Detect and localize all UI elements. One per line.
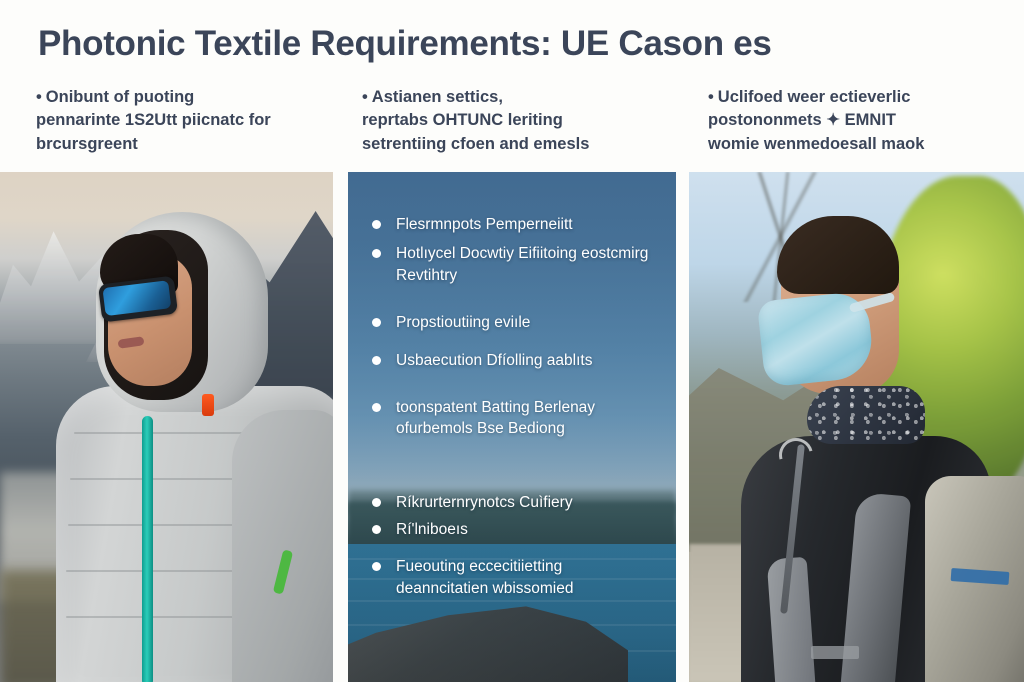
bullet-dot-icon	[372, 220, 381, 229]
list-item: Rí'lniboeıs	[368, 519, 654, 540]
panel-left	[0, 172, 333, 682]
man-mask-backpack-photo	[689, 172, 1024, 682]
subhead-line: setrentiing cfoen and emesls	[362, 133, 672, 156]
panel-middle: Flesrmnpots Pemperneiitt Hotlıycel Docwt…	[348, 172, 676, 682]
subhead-line: reprtabs OHTUNC leriting	[362, 109, 672, 132]
subhead-line: Astianen settics,	[372, 88, 503, 106]
subhead-line: pennarinte 1S2Utt piicnatc for	[36, 109, 326, 132]
panel-row: Flesrmnpots Pemperneiitt Hotlıycel Docwt…	[0, 172, 1024, 682]
sunglasses-lens	[102, 280, 171, 316]
bullet-dot-icon	[372, 525, 381, 534]
list-item: Flesrmnpots Pemperneiitt	[368, 214, 654, 235]
list-item: Hotlıycel Docwtiy Eifiitoing eostcmirg R…	[368, 243, 654, 286]
subhead-row: •Onibunt of puoting pennarinte 1S2Utt pi…	[0, 86, 1024, 172]
panel-right	[689, 172, 1024, 682]
jacket-logo	[811, 646, 859, 659]
zipper-pull-tab	[202, 394, 214, 416]
subhead-line: Onibunt of puoting	[46, 88, 194, 106]
list-item-label: Fueouting eccecitiietting deanncitatien …	[396, 558, 574, 596]
subhead-line: brcursgreent	[36, 133, 326, 156]
neck-gaiter	[807, 386, 925, 444]
feature-list: Flesrmnpots Pemperneiitt Hotlıycel Docwt…	[348, 172, 676, 682]
bullet-icon: •	[36, 88, 42, 106]
bullet-icon: •	[708, 88, 714, 106]
subhead-line: postononmets ✦ EMNIT	[708, 109, 1012, 132]
list-item-label: Usbaecution Dfíolling aablıts	[396, 352, 592, 369]
bullet-dot-icon	[372, 562, 381, 571]
list-item-label: Propstioutiing eviıle	[396, 314, 530, 331]
bullet-dot-icon	[372, 318, 381, 327]
list-item: Usbaecution Dfíolling aablıts	[368, 350, 654, 371]
list-item: toonspatent Batting Berlenay ofurbemols …	[368, 397, 654, 440]
page-title: Photonic Textile Requirements: UE Cason …	[38, 24, 772, 64]
bullet-dot-icon	[372, 498, 381, 507]
list-item-label: Rí'lniboeıs	[396, 521, 468, 538]
list-item: Propstioutiing eviıle	[368, 312, 654, 333]
list-item-label: Ríkrurternrynotcs Cuìfiery	[396, 494, 573, 511]
list-item-label: Flesrmnpots Pemperneiitt	[396, 216, 573, 233]
list-item: Ríkrurternrynotcs Cuìfiery	[368, 492, 654, 513]
woman-jacket-photo	[0, 172, 333, 682]
list-item: Fueouting eccecitiietting deanncitatien …	[368, 556, 654, 599]
subhead-column-3: •Uclifoed weer ectieverlic postononmets …	[688, 86, 1024, 172]
list-item-label: toonspatent Batting Berlenay ofurbemols …	[396, 399, 595, 437]
bullet-dot-icon	[372, 356, 381, 365]
bullet-dot-icon	[372, 403, 381, 412]
jacket-zipper	[142, 416, 153, 682]
subhead-column-2: •Astianen settics, reprtabs OHTUNC lerit…	[348, 86, 688, 172]
jacket-shoulder	[232, 410, 333, 682]
subhead-line: womie wenmedoesall maok	[708, 133, 1012, 156]
list-item-label: Hotlıycel Docwtiy Eifiitoing eostcmirg R…	[396, 245, 648, 283]
bullet-icon: •	[362, 88, 368, 106]
subhead-line: Uclifoed weer ectieverlic	[718, 88, 911, 106]
infographic-slide: Photonic Textile Requirements: UE Cason …	[0, 0, 1024, 682]
bullet-dot-icon	[372, 249, 381, 258]
subhead-column-1: •Onibunt of puoting pennarinte 1S2Utt pi…	[0, 86, 348, 172]
slide-header: Photonic Textile Requirements: UE Cason …	[0, 0, 1024, 172]
